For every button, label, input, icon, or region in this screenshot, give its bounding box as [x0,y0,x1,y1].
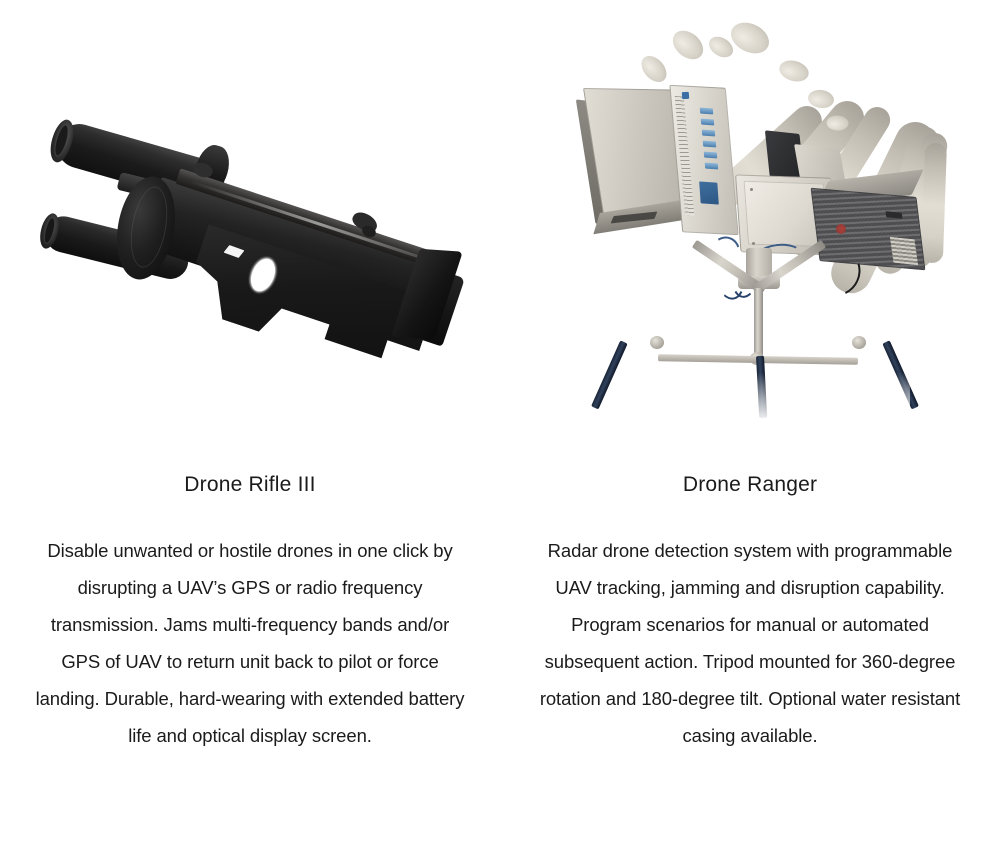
control-panel-status-led[interactable] [682,92,689,99]
control-panel-led-6 [705,163,719,170]
pan-tilt-screw-bl [752,242,755,245]
tripod-leg-center-upper [754,288,763,356]
control-panel-led-4 [703,141,717,148]
tripod-leg-left-lower [591,340,628,409]
tripod-leg-center-lower [756,356,767,418]
dark-module-fins [890,237,918,265]
product-grid: Drone Rifle III Disable unwanted or host… [0,0,1000,848]
product-title-drone-ranger: Drone Ranger [683,470,817,500]
tripod-knuckle-right [852,336,866,349]
jammer-tube-5-cap [777,57,811,84]
control-panel-led-5 [704,152,718,159]
jammer-tube-1-cap [637,51,672,87]
product-showcase-page: Drone Rifle III Disable unwanted or host… [0,0,1000,848]
control-panel-led-2 [701,119,715,126]
drone-ranger-photo [500,0,1000,470]
pan-tilt-screw-tl [750,188,753,191]
drone-ranger-illustration [500,0,1000,470]
tripod-knuckle-left [650,336,664,349]
jammer-tube-2-cap [667,25,708,65]
product-card-drone-rifle: Drone Rifle III Disable unwanted or host… [0,0,500,848]
drone-rifle-illustration [0,0,500,470]
control-panel-led-1 [700,108,714,115]
product-description-drone-rifle: Disable unwanted or hostile drones in on… [29,532,471,754]
jammer-tube-7 [921,143,947,264]
product-description-drone-ranger: Radar drone detection system with progra… [529,532,971,754]
jammer-tube-4-cap [726,17,774,60]
product-title-drone-rifle: Drone Rifle III [184,470,315,500]
tripod-leg-right-lower [882,340,919,409]
manufacturer-logo-icon [836,224,846,234]
control-panel-badge [699,181,719,204]
product-card-drone-ranger: Drone Ranger Radar drone detection syste… [500,0,1000,848]
control-panel-led-3 [702,130,716,137]
drone-rifle-photo [0,0,500,470]
